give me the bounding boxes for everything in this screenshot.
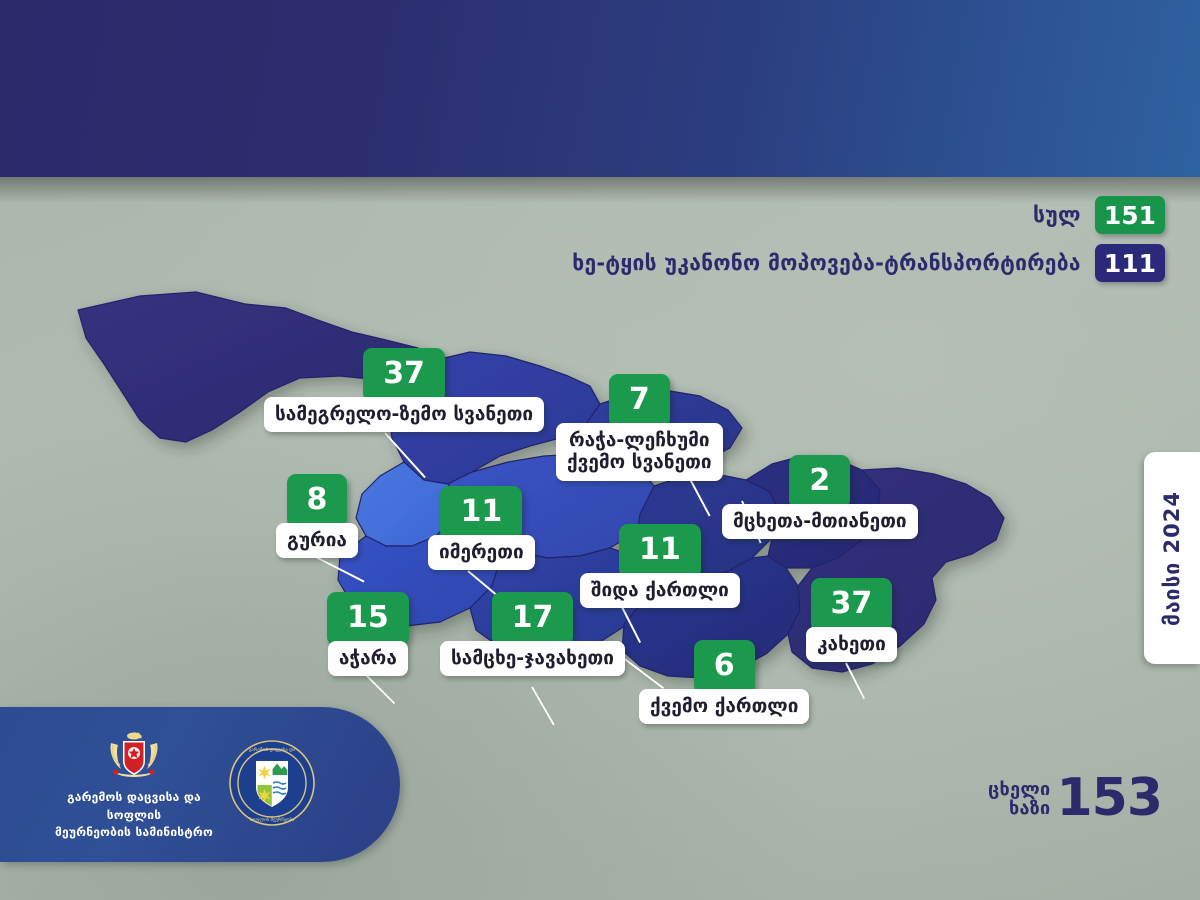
ministry-seal-icon: გარემოს დაცვისა და სოფლის მეურნეობა — [228, 739, 316, 831]
pin-value-achara: 15 — [327, 592, 409, 646]
pin-value-shida: 11 — [619, 524, 701, 578]
summary-detail-badge: 111 — [1095, 244, 1165, 282]
pin-label-kakheti: კახეთი — [806, 627, 897, 662]
ministry-name: გარემოს დაცვისა და სოფლის მეურნეობის სამ… — [54, 789, 214, 841]
pin-value-imereti: 11 — [440, 486, 522, 540]
pin-imereti[interactable]: 11 იმერეთი — [428, 486, 535, 570]
pin-value-kvemo: 6 — [694, 640, 755, 694]
pin-value-samegrelo: 37 — [363, 348, 445, 402]
summary-row-total: სულ 151 — [1033, 196, 1165, 234]
pin-kakheti[interactable]: 37 კახეთი — [806, 578, 897, 662]
pin-value-racha: 7 — [609, 374, 670, 428]
pin-achara[interactable]: 15 აჭარა — [327, 592, 409, 676]
summary-block: სულ 151 ხე-ტყის უკანონო მოპოვება-ტრანსპო… — [572, 196, 1165, 282]
pin-label-kvemo: ქვემო ქართლი — [639, 689, 809, 724]
pin-label-mtskheta: მცხეთა-მთიანეთი — [722, 504, 918, 539]
footer-band: გარემოს დაცვისა და სოფლის მეურნეობის სამ… — [0, 707, 400, 862]
summary-total-badge: 151 — [1095, 196, 1165, 234]
pin-kvemo[interactable]: 6 ქვემო ქართლი — [639, 640, 809, 724]
summary-detail-label: ხე-ტყის უკანონო მოპოვება-ტრანსპორტირება — [572, 251, 1081, 275]
georgia-coat-of-arms-icon — [99, 727, 169, 783]
hotline-label: ცხელი ხაზი — [988, 780, 1050, 818]
infographic-poster: უკანონო ტყითსარგებლობის სტატისტიკა სულ 1… — [0, 0, 1200, 900]
pin-label-imereti: იმერეთი — [428, 535, 535, 570]
pin-samegrelo[interactable]: 37 სამეგრელო-ზემო სვანეთი — [264, 348, 544, 432]
svg-text:გარემოს დაცვისა და: გარემოს დაცვისა და — [249, 746, 296, 753]
pin-mtskheta[interactable]: 2 მცხეთა-მთიანეთი — [722, 455, 918, 539]
pin-label-racha: რაჭა-ლეჩხუმი ქვემო სვანეთი — [556, 423, 723, 481]
summary-total-label: სულ — [1033, 203, 1081, 227]
pin-value-samtskhe: 17 — [492, 592, 574, 646]
pin-samtskhe[interactable]: 17 სამცხე-ჯავახეთი — [440, 592, 625, 676]
header-banner — [0, 0, 1200, 177]
date-tab-label: მაისი 2024 — [1160, 491, 1184, 626]
pin-racha[interactable]: 7 რაჭა-ლეჩხუმი ქვემო სვანეთი — [556, 374, 723, 481]
pin-guria[interactable]: 8 გურია — [276, 474, 358, 558]
pin-value-guria: 8 — [287, 474, 348, 528]
date-tab: მაისი 2024 — [1144, 452, 1200, 664]
pin-value-mtskheta: 2 — [789, 455, 850, 509]
pin-value-kakheti: 37 — [811, 578, 893, 632]
pin-label-achara: აჭარა — [328, 641, 408, 676]
hotline-block: ცხელი ხაზი 153 — [988, 775, 1162, 823]
pin-label-guria: გურია — [276, 523, 358, 558]
svg-text:სოფლის მეურნეობა: სოფლის მეურნეობა — [250, 816, 295, 823]
pin-label-samtskhe: სამცხე-ჯავახეთი — [440, 641, 625, 676]
summary-row-detail: ხე-ტყის უკანონო მოპოვება-ტრანსპორტირება … — [572, 244, 1165, 282]
ministry-block: გარემოს დაცვისა და სოფლის მეურნეობის სამ… — [54, 727, 214, 841]
hotline-number: 153 — [1056, 775, 1162, 823]
pin-label-samegrelo: სამეგრელო-ზემო სვანეთი — [264, 397, 544, 432]
